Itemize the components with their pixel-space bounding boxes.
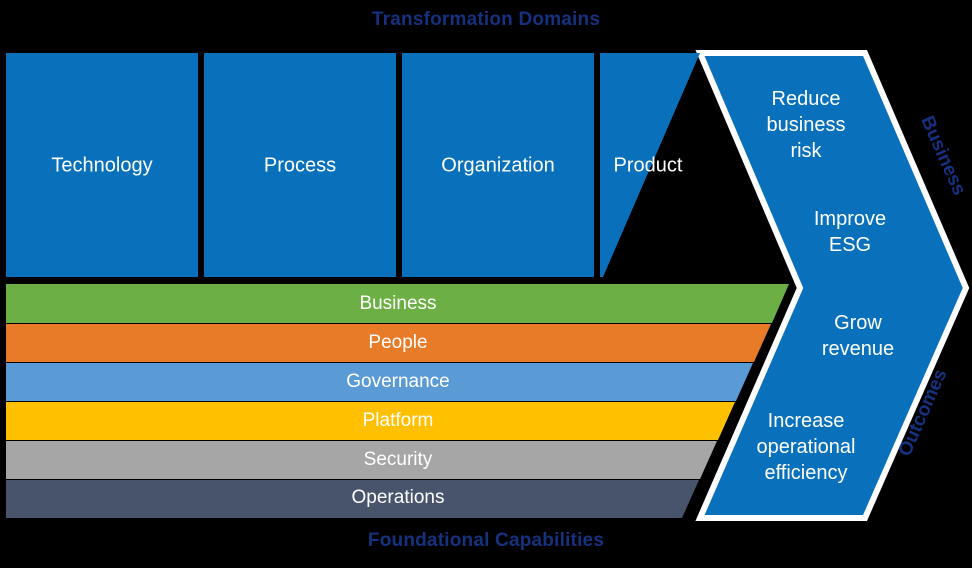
bottom-title: Foundational Capabilities — [0, 530, 972, 552]
outcome-line: ESG — [829, 234, 871, 256]
capability-label-platform: Platform — [363, 410, 434, 431]
outcome-increase-operational-efficiency: Increase operational efficiency — [757, 410, 856, 484]
capability-label-governance: Governance — [346, 371, 450, 392]
capability-bars — [6, 284, 789, 518]
capability-label-people: People — [368, 332, 427, 353]
domain-label-organization: Organization — [441, 154, 554, 176]
capability-bar-security[interactable] — [6, 441, 717, 479]
outcome-line: efficiency — [764, 462, 847, 484]
outcome-line: Increase — [768, 410, 845, 432]
outcome-line: operational — [757, 436, 856, 458]
domain-label-product: Product — [614, 154, 683, 176]
capability-label-operations: Operations — [352, 487, 445, 508]
outcome-line: risk — [790, 140, 822, 162]
domain-label-technology: Technology — [51, 154, 152, 176]
outcome-line: revenue — [822, 338, 894, 360]
top-title: Transformation Domains — [0, 9, 972, 31]
capability-label-security: Security — [364, 449, 433, 470]
outcome-line: Grow — [834, 312, 882, 334]
domain-label-process: Process — [264, 154, 336, 176]
outcome-line: business — [767, 114, 846, 136]
outcome-line: Improve — [814, 208, 886, 230]
capability-label-business: Business — [359, 293, 436, 314]
outcome-line: Reduce — [772, 88, 841, 110]
diagram-svg: Technology Process Organization Product … — [0, 0, 972, 568]
diagram-canvas: Transformation Domains Foundational Capa… — [0, 0, 972, 568]
